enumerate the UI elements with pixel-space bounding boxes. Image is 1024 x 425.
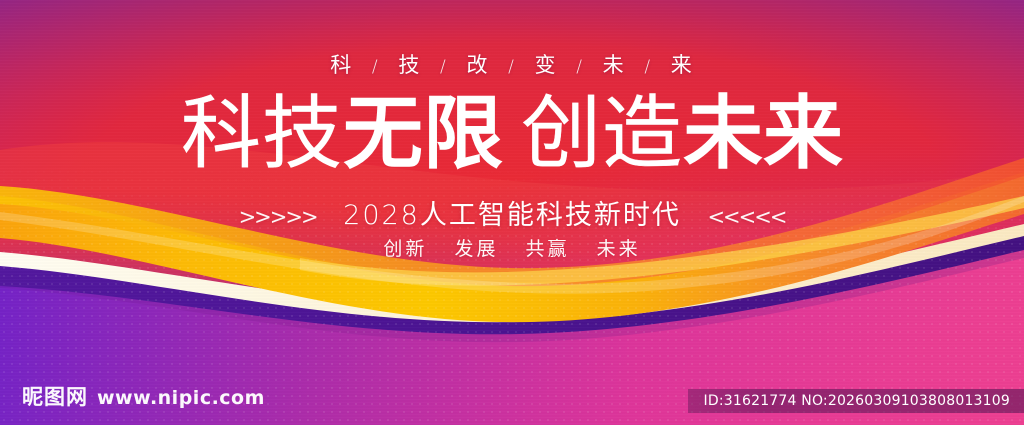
headline-part2-bold: 未来 [683,87,843,180]
tagline-top-separator-1: / [432,57,456,77]
image-id-text: ID:31621774 NO:20260309103808013109 [704,393,1010,409]
tagline-bottom-word-1: 发展 [445,238,507,260]
subtitle: >>>>> 2028人工智能科技新时代 <<<<< [0,193,1024,232]
tagline-bottom-word-3: 未来 [588,238,650,260]
image-id-strip: ID:31621774 NO:20260309103808013109 [688,389,1024,413]
watermark: 昵图网 www.nipic.com [22,381,265,411]
tagline-top-separator-2: / [500,57,524,77]
headline-part2-thin: 创造 [521,87,683,180]
tagline-top-char-0: 科 [328,53,355,77]
tagline-top-separator-4: / [636,57,660,77]
tagline-top-char-1: 技 [396,53,423,77]
headline-part1-bold: 无限 [343,87,503,180]
tagline-top: 科 / 技 / 改 / 变 / 未 / 来 [0,49,1024,79]
tagline-top-char-4: 未 [601,53,628,77]
subtitle-text: 2028人工智能科技新时代 [327,200,697,231]
tagline-top-separator-3: / [568,57,592,77]
tagline-bottom-word-2: 共赢 [517,238,579,260]
subtitle-left-arrows: >>>>> [239,205,317,229]
tagline-bottom: 创新 发展 共赢 未来 [0,234,1024,261]
headline-part1-thin: 科技 [181,87,343,180]
tagline-top-char-3: 变 [533,53,560,77]
subtitle-right-arrows: <<<<< [707,205,785,229]
promo-banner: 科 / 技 / 改 / 变 / 未 / 来 科技无限创造未来 >>>>> 202… [0,0,1024,425]
headline: 科技无限创造未来 [0,88,1024,180]
watermark-url: www.nipic.com [97,387,265,409]
tagline-top-separator-0: / [364,57,388,77]
tagline-top-char-2: 改 [464,53,491,77]
tagline-bottom-word-0: 创新 [374,238,436,260]
watermark-brand: 昵图网 [22,381,88,411]
tagline-top-char-5: 来 [669,53,696,77]
